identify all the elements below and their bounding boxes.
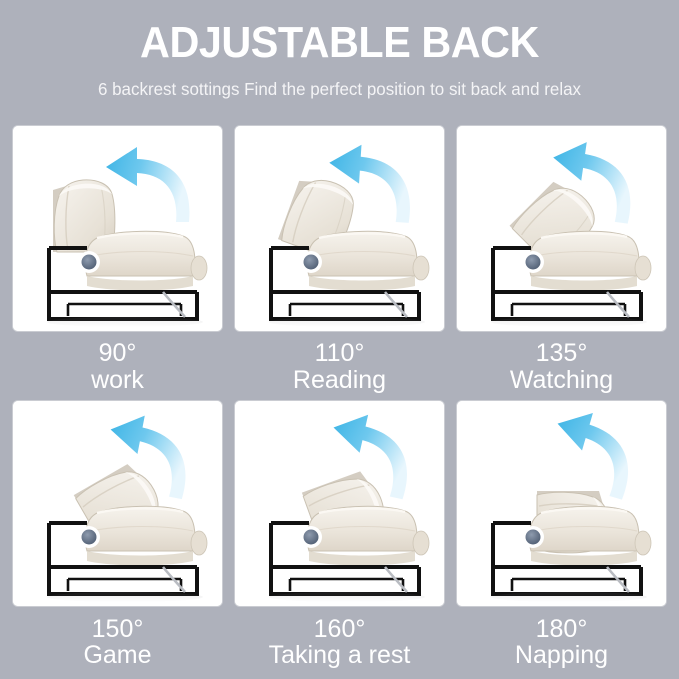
- position-cell-150: 150°Game: [13, 401, 222, 670]
- position-use-label: Taking a rest: [269, 642, 411, 669]
- position-angle: 180°: [515, 616, 608, 643]
- position-angle: 110°: [293, 340, 386, 367]
- recliner-chair-icon: [13, 401, 222, 606]
- recliner-chair-icon: [235, 126, 444, 331]
- position-use-label: Reading: [293, 367, 386, 394]
- position-caption: 180°Napping: [515, 616, 608, 670]
- position-use-label: Game: [83, 642, 151, 669]
- recliner-chair-icon: [235, 401, 444, 606]
- position-use-label: work: [91, 367, 144, 394]
- position-angle: 135°: [510, 340, 613, 367]
- recliner-chair-icon: [457, 401, 666, 606]
- adjustable-back-infographic: ADJUSTABLE BACK 6 backrest sottings Find…: [0, 0, 679, 679]
- position-caption: 135°Watching: [510, 340, 613, 394]
- position-angle: 160°: [269, 616, 411, 643]
- position-cell-90: 90°work: [13, 126, 222, 394]
- recliner-chair-icon: [457, 126, 666, 331]
- position-caption: 160°Taking a rest: [269, 616, 411, 670]
- position-angle: 150°: [83, 616, 151, 643]
- position-caption: 90°work: [91, 340, 144, 394]
- chair-illustration-card: [13, 126, 222, 331]
- header: ADJUSTABLE BACK 6 backrest sottings Find…: [0, 0, 679, 100]
- chair-illustration-card: [235, 401, 444, 606]
- position-use-label: Napping: [515, 642, 608, 669]
- position-grid: 90°work: [13, 126, 666, 669]
- position-caption: 150°Game: [83, 616, 151, 670]
- chair-illustration-card: [13, 401, 222, 606]
- position-cell-135: 135°Watching: [457, 126, 666, 394]
- position-cell-160: 160°Taking a rest: [235, 401, 444, 670]
- position-caption: 110°Reading: [293, 340, 386, 394]
- recliner-chair-icon: [13, 126, 222, 331]
- position-angle: 90°: [91, 340, 144, 367]
- position-cell-110: 110°Reading: [235, 126, 444, 394]
- position-use-label: Watching: [510, 367, 613, 394]
- page-title: ADJUSTABLE BACK: [20, 18, 658, 68]
- chair-illustration-card: [457, 126, 666, 331]
- chair-illustration-card: [457, 401, 666, 606]
- chair-illustration-card: [235, 126, 444, 331]
- position-cell-180: 180°Napping: [457, 401, 666, 670]
- page-subtitle: 6 backrest sottings Find the perfect pos…: [10, 78, 669, 100]
